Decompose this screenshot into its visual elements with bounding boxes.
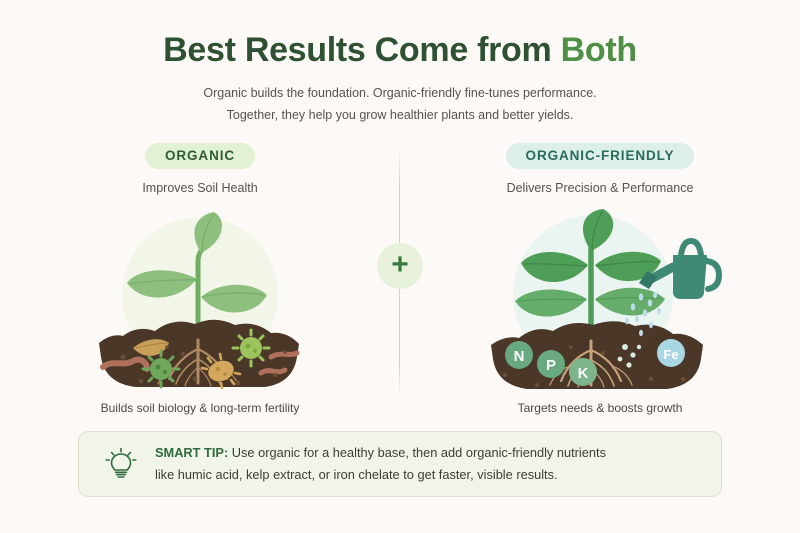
badge-organic-friendly: ORGANIC-FRIENDLY — [506, 143, 695, 169]
svg-text:Fe: Fe — [663, 347, 678, 362]
column-organic-caption: Builds soil biology & long-term fertilit… — [101, 401, 300, 415]
column-organic: ORGANIC Improves Soil Health — [0, 143, 400, 415]
header: Best Results Come from Both Organic buil… — [0, 30, 800, 126]
nutrient-badge-p: P — [537, 350, 565, 378]
smart-tip-body-1: Use organic for a healthy base, then add… — [228, 445, 606, 460]
svg-text:K: K — [578, 365, 589, 382]
title-accent-text: Both — [561, 31, 637, 69]
smart-tip-line-2: like humic acid, kelp extract, or iron c… — [155, 464, 606, 486]
infographic-root: Best Results Come from Both Organic buil… — [0, 0, 800, 533]
microbe-icon-green-1 — [143, 351, 179, 387]
badge-organic: ORGANIC — [145, 143, 255, 169]
plus-icon: + — [391, 250, 409, 280]
smart-tip-text: SMART TIP: Use organic for a healthy bas… — [155, 442, 606, 486]
nutrient-badge-n: N — [505, 341, 533, 369]
svg-text:P: P — [546, 357, 556, 374]
column-organic-friendly: ORGANIC-FRIENDLY Delivers Precision & Pe… — [400, 143, 800, 415]
nutrient-badge-k: K — [569, 358, 597, 386]
column-organic-friendly-subtitle: Delivers Precision & Performance — [507, 181, 694, 195]
smart-tip-label: SMART TIP: — [155, 445, 228, 460]
nutrient-badge-fe: Fe — [657, 339, 685, 367]
plus-divider-badge: + — [377, 243, 423, 289]
smart-tip-line-1: SMART TIP: Use organic for a healthy bas… — [155, 442, 606, 464]
smart-tip-box: SMART TIP: Use organic for a healthy bas… — [78, 431, 722, 497]
illustration-organic — [75, 207, 325, 397]
lightbulb-icon — [101, 444, 141, 484]
illustration-organic-friendly: N P K Fe — [475, 207, 725, 397]
svg-text:N: N — [514, 348, 525, 365]
page-title: Best Results Come from Both — [0, 30, 800, 70]
column-organic-friendly-caption: Targets needs & boosts growth — [518, 401, 683, 415]
page-subtitle: Organic builds the foundation. Organic-f… — [0, 83, 800, 126]
title-main-text: Best Results Come from — [163, 31, 560, 69]
column-organic-subtitle: Improves Soil Health — [142, 181, 257, 195]
microbe-icon-green-2 — [233, 330, 269, 366]
subtitle-line-1: Organic builds the foundation. Organic-f… — [0, 83, 800, 105]
subtitle-line-2: Together, they help you grow healthier p… — [0, 105, 800, 127]
